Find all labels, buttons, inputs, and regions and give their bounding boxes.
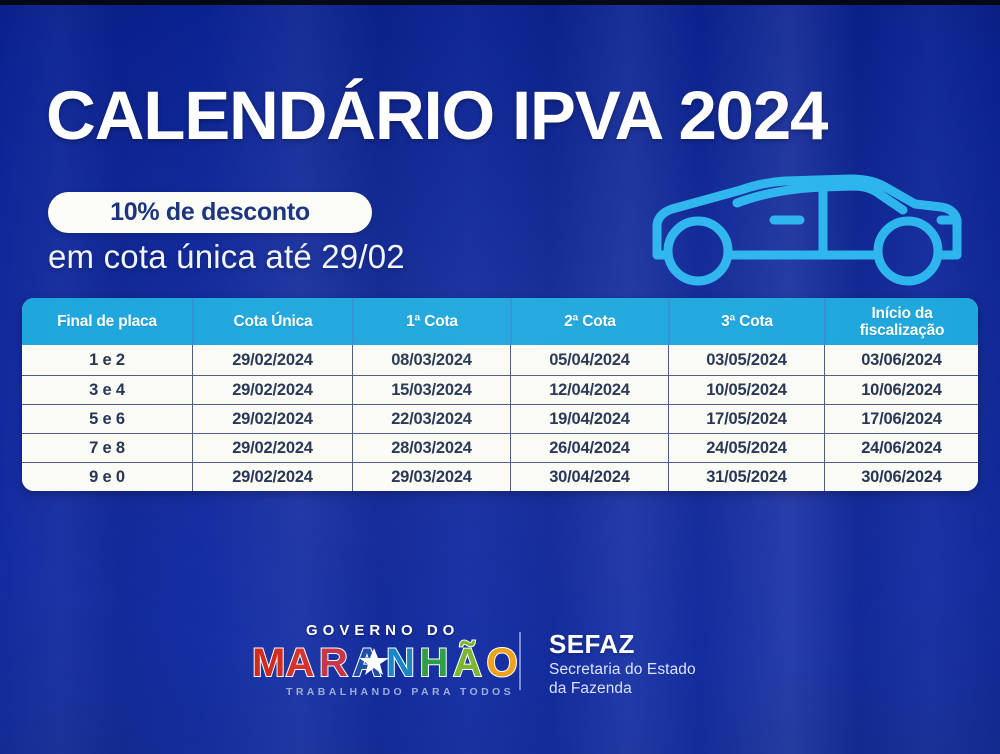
subtitle: em cota única até 29/02	[48, 238, 405, 276]
cell-3a-cota: 24/05/2024	[668, 434, 824, 462]
cell-inicio-fiscalizacao: 10/06/2024	[824, 376, 978, 404]
cell-1a-cota: 29/03/2024	[352, 463, 510, 491]
table-row: 3 e 4 29/02/2024 15/03/2024 12/04/2024 1…	[22, 375, 978, 404]
cell-cota-unica: 29/02/2024	[192, 405, 352, 433]
cell-final-placa: 1 e 2	[22, 345, 192, 375]
cell-1a-cota: 22/03/2024	[352, 405, 510, 433]
column-header-final-de-placa: Final de placa	[22, 298, 192, 345]
logo-wordmark: MARANHÃO	[248, 638, 526, 682]
cell-3a-cota: 31/05/2024	[668, 463, 824, 491]
cell-2a-cota: 12/04/2024	[510, 376, 668, 404]
page-title: CALENDÁRIO IPVA 2024	[46, 79, 966, 153]
cell-final-placa: 7 e 8	[22, 434, 192, 462]
cell-2a-cota: 19/04/2024	[510, 405, 668, 433]
cell-2a-cota: 30/04/2024	[510, 463, 668, 491]
table-row: 7 e 8 29/02/2024 28/03/2024 26/04/2024 2…	[22, 433, 978, 462]
logo-letter: R	[319, 641, 348, 682]
ipva-calendar-poster: CALENDÁRIO IPVA 2024 10% de desconto em …	[0, 0, 1000, 754]
logo-letter: O	[487, 641, 518, 682]
cell-1a-cota: 28/03/2024	[352, 434, 510, 462]
table-header-row: Final de placa Cota Única 1ª Cota 2ª Cot…	[22, 298, 978, 345]
cell-cota-unica: 29/02/2024	[192, 434, 352, 462]
ipva-schedule-table: Final de placa Cota Única 1ª Cota 2ª Cot…	[22, 298, 978, 491]
logo-letter: Ã	[453, 639, 482, 682]
cell-inicio-fiscalizacao: 24/06/2024	[824, 434, 978, 462]
sefaz-title: SEFAZ	[549, 630, 696, 658]
column-header-3a-cota: 3ª Cota	[668, 298, 824, 345]
cell-inicio-fiscalizacao: 17/06/2024	[824, 405, 978, 433]
logo-letter: N	[386, 641, 415, 682]
logo-letter: M	[252, 641, 285, 682]
sefaz-block: SEFAZ Secretaria do Estado da Fazenda	[549, 630, 696, 698]
logo-tagline: TRABALHANDO PARA TODOS	[286, 686, 514, 698]
cell-final-placa: 3 e 4	[22, 376, 192, 404]
cell-1a-cota: 08/03/2024	[352, 345, 510, 375]
sefaz-subtitle-line2: da Fazenda	[549, 679, 696, 698]
discount-badge: 10% de desconto	[48, 192, 372, 233]
logo-top-line: GOVERNO DO	[306, 622, 459, 639]
column-header-inicio-fiscalizacao: Início da fiscalização	[824, 298, 978, 345]
sefaz-subtitle: Secretaria do Estado da Fazenda	[549, 660, 696, 698]
column-header-2a-cota: 2ª Cota	[510, 298, 668, 345]
footer: GOVERNO DO MARANHÃO TRABALHANDO PARA TOD…	[0, 618, 1000, 710]
maranhao-wordmark-svg: MARANHÃO	[248, 638, 526, 682]
cell-cota-unica: 29/02/2024	[192, 376, 352, 404]
table-row: 5 e 6 29/02/2024 22/03/2024 19/04/2024 1…	[22, 404, 978, 433]
table-row: 9 e 0 29/02/2024 29/03/2024 30/04/2024 3…	[22, 462, 978, 491]
top-edge-band	[0, 0, 1000, 5]
cell-inicio-fiscalizacao: 03/06/2024	[824, 345, 978, 375]
cell-cota-unica: 29/02/2024	[192, 463, 352, 491]
cell-2a-cota: 26/04/2024	[510, 434, 668, 462]
column-header-1a-cota: 1ª Cota	[352, 298, 510, 345]
governo-do-maranhao-logo: GOVERNO DO MARANHÃO TRABALHANDO PARA TOD…	[246, 618, 526, 704]
cell-1a-cota: 15/03/2024	[352, 376, 510, 404]
cell-3a-cota: 03/05/2024	[668, 345, 824, 375]
cell-final-placa: 9 e 0	[22, 463, 192, 491]
table-row: 1 e 2 29/02/2024 08/03/2024 05/04/2024 0…	[22, 345, 978, 375]
cell-3a-cota: 17/05/2024	[668, 405, 824, 433]
logo-letter: H	[420, 641, 449, 682]
cell-final-placa: 5 e 6	[22, 405, 192, 433]
discount-badge-label: 10% de desconto	[110, 198, 310, 227]
cell-inicio-fiscalizacao: 30/06/2024	[824, 463, 978, 491]
sefaz-subtitle-line1: Secretaria do Estado	[549, 660, 696, 679]
car-side-icon	[645, 160, 975, 288]
footer-divider	[519, 632, 521, 690]
column-header-cota-unica: Cota Única	[192, 298, 352, 345]
cell-3a-cota: 10/05/2024	[668, 376, 824, 404]
table-body: 1 e 2 29/02/2024 08/03/2024 05/04/2024 0…	[22, 345, 978, 491]
logo-letter: A	[286, 641, 315, 682]
cell-2a-cota: 05/04/2024	[510, 345, 668, 375]
cell-cota-unica: 29/02/2024	[192, 345, 352, 375]
